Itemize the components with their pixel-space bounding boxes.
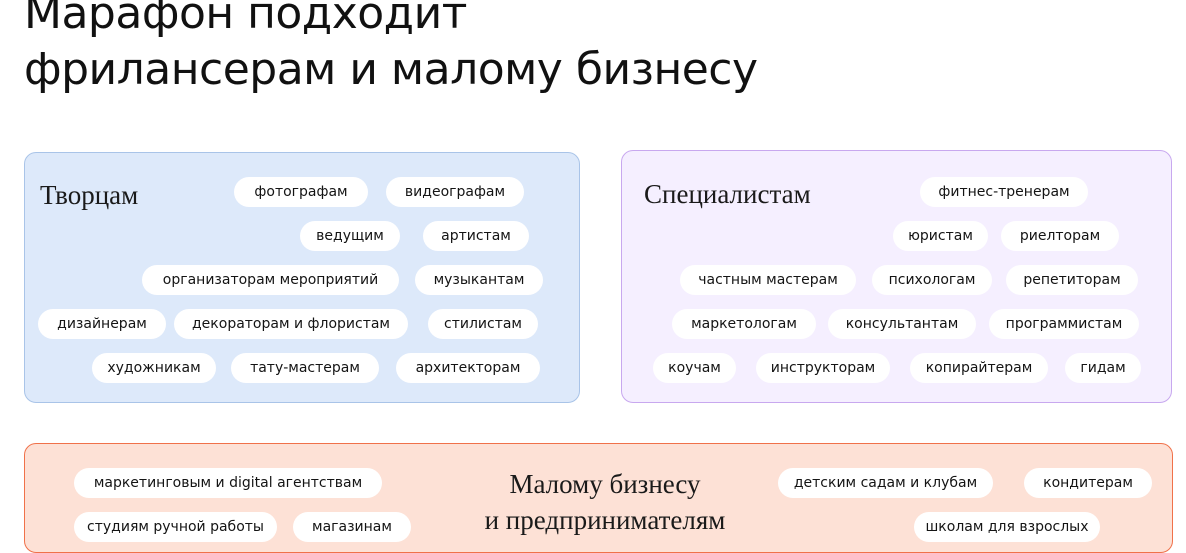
tag-specialists-0[interactable]: фитнес-тренерам (920, 177, 1088, 207)
tag-specialists-2[interactable]: риелторам (1001, 221, 1119, 251)
tag-creators-0[interactable]: фотографам (234, 177, 368, 207)
tag-creators-7[interactable]: декораторам и флористам (174, 309, 408, 339)
tag-creators-1[interactable]: видеографам (386, 177, 524, 207)
tag-specialists-10[interactable]: инструкторам (756, 353, 890, 383)
tag-creators-5[interactable]: музыкантам (415, 265, 543, 295)
tag-specialists-11[interactable]: копирайтерам (910, 353, 1048, 383)
tag-creators-10[interactable]: тату-мастерам (231, 353, 379, 383)
tag-creators-9[interactable]: художникам (92, 353, 216, 383)
tag-business-3[interactable]: студиям ручной работы (74, 512, 277, 542)
tag-specialists-12[interactable]: гидам (1065, 353, 1141, 383)
page-title: Марафон подходит фрилансерам и малому би… (24, 0, 1124, 98)
tag-specialists-3[interactable]: частным мастерам (680, 265, 856, 295)
tag-creators-11[interactable]: архитекторам (396, 353, 540, 383)
panel-specialists-heading: Специалистам (644, 177, 894, 211)
tag-creators-8[interactable]: стилистам (428, 309, 538, 339)
tag-specialists-5[interactable]: репетиторам (1006, 265, 1138, 295)
tag-creators-3[interactable]: артистам (423, 221, 529, 251)
tag-specialists-1[interactable]: юристам (893, 221, 988, 251)
tag-business-4[interactable]: магазинам (293, 512, 411, 542)
panel-creators-heading: Творцам (40, 178, 230, 212)
tag-specialists-9[interactable]: коучам (653, 353, 736, 383)
tag-specialists-8[interactable]: программистам (989, 309, 1139, 339)
tag-business-2[interactable]: кондитерам (1024, 468, 1152, 498)
tag-specialists-4[interactable]: психологам (872, 265, 992, 295)
tag-creators-2[interactable]: ведущим (300, 221, 400, 251)
tag-specialists-6[interactable]: маркетологам (672, 309, 816, 339)
panel-business-heading: Малому бизнесу и предпринимателям (430, 466, 780, 538)
tag-business-0[interactable]: маркетинговым и digital агентствам (74, 468, 382, 498)
tag-specialists-7[interactable]: консультантам (828, 309, 976, 339)
tag-creators-4[interactable]: организаторам мероприятий (142, 265, 399, 295)
tag-business-1[interactable]: детским садам и клубам (778, 468, 993, 498)
tag-business-5[interactable]: школам для взрослых (914, 512, 1100, 542)
tag-creators-6[interactable]: дизайнерам (38, 309, 166, 339)
